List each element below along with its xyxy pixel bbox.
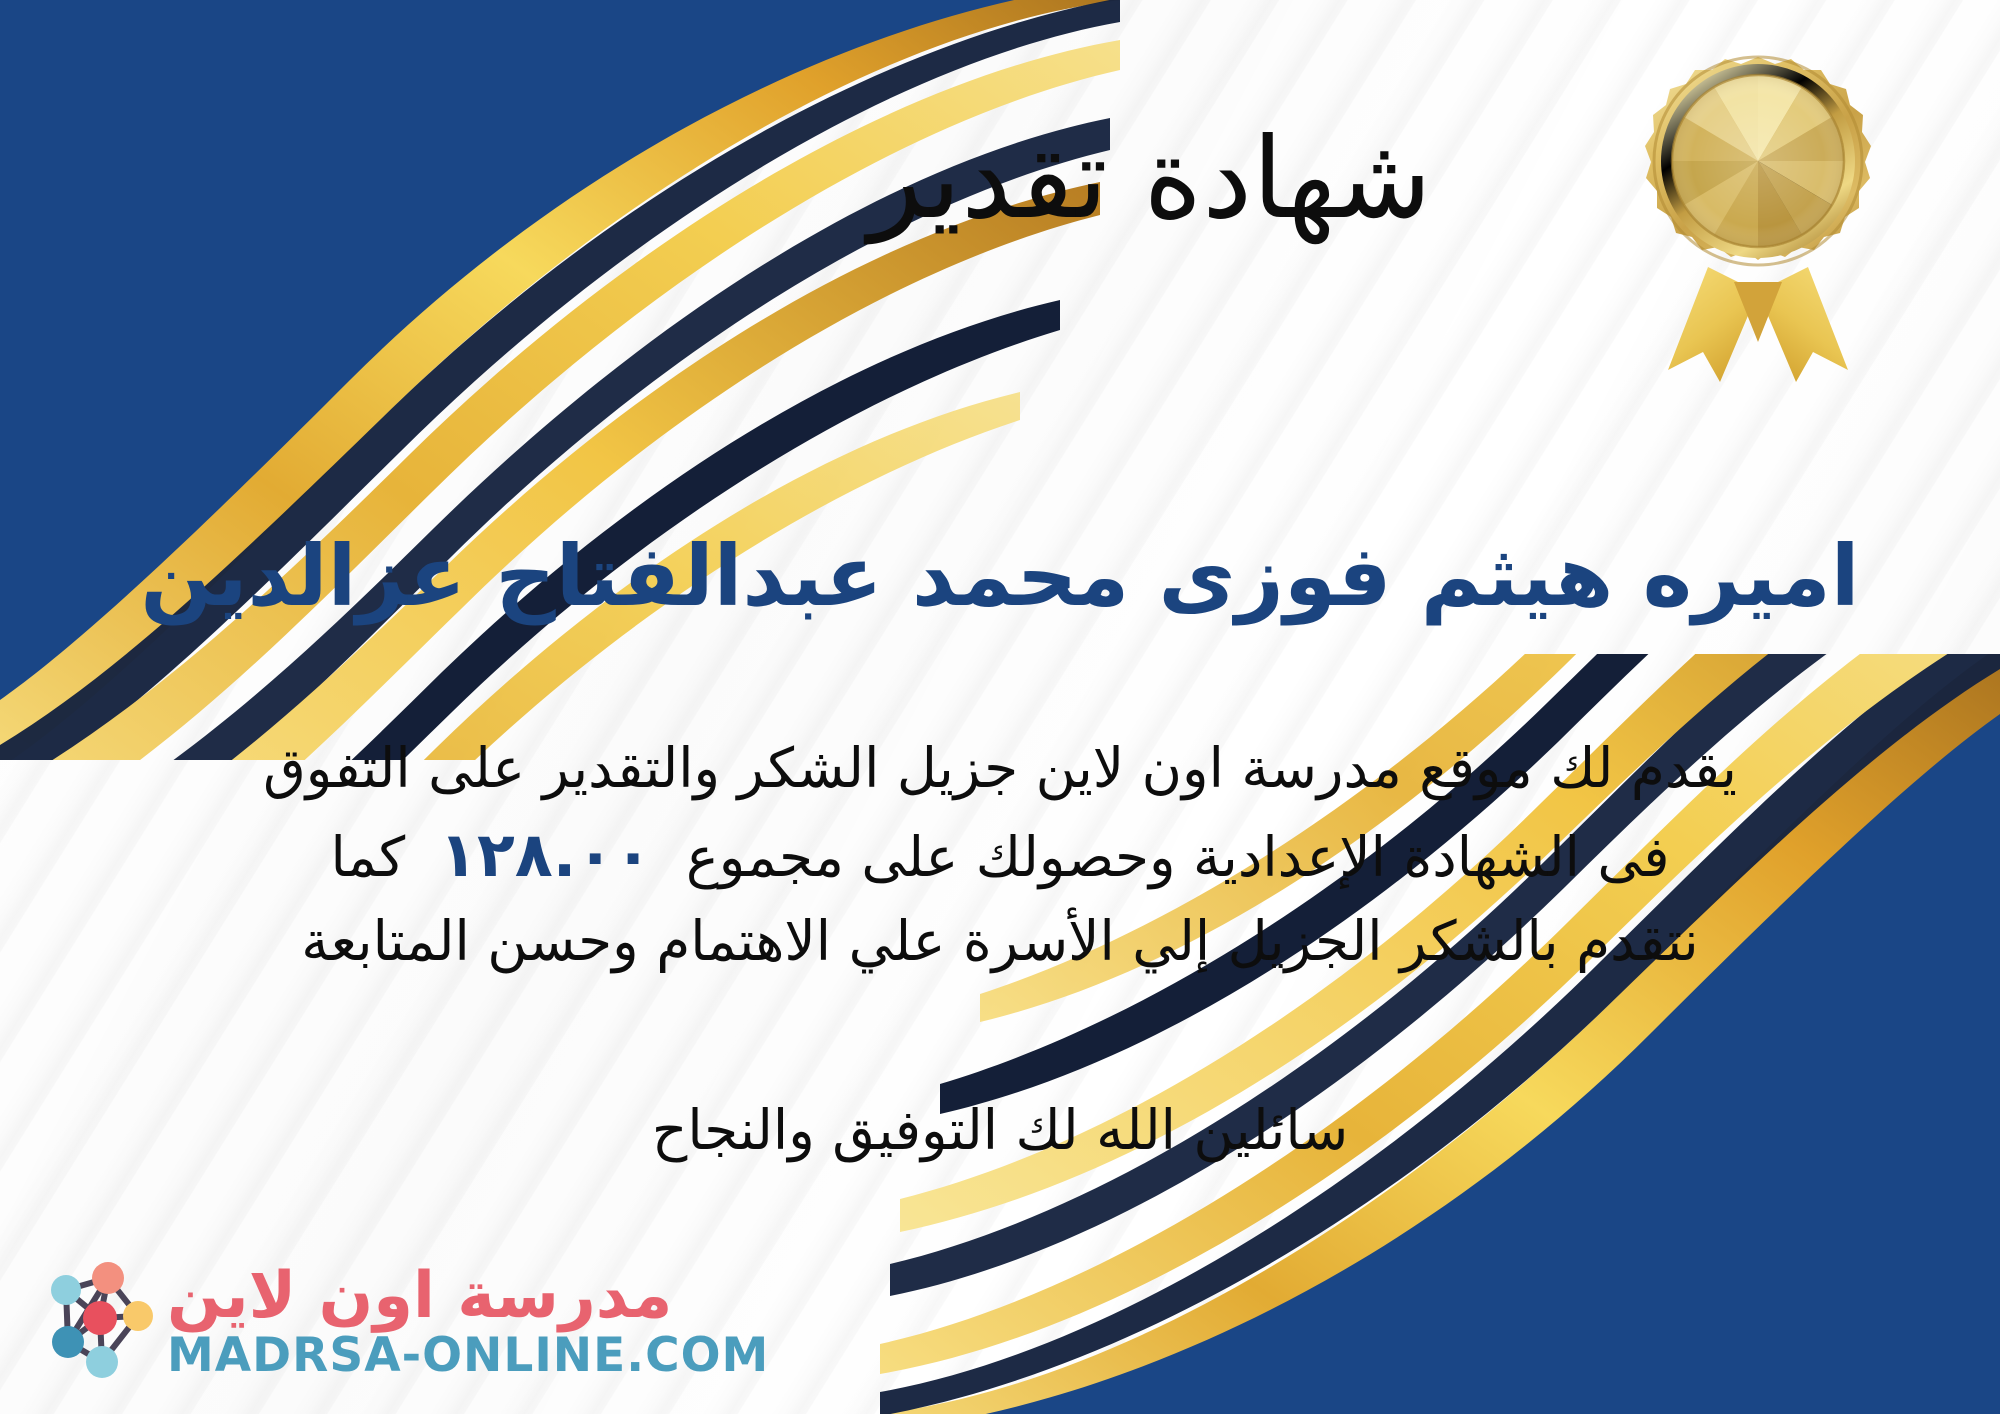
- page-title: شهادة تقدير: [0, 118, 2000, 241]
- body-line-2-prefix: فى الشهادة الإعدادية وحصولك على مجموع: [686, 825, 1670, 889]
- certificate-canvas: شهادة تقدير اميره هيثم فوزى محمد عبدالفت…: [0, 0, 2000, 1414]
- closing-line: سائلين الله لك التوفيق والنجاح: [0, 1098, 2000, 1162]
- body-line-1: يقدم لك موقع مدرسة اون لاين جزيل الشكر و…: [60, 728, 1940, 809]
- grade-total-value: ١٢٨.٠٠: [405, 818, 686, 891]
- body-line-2-suffix: كما: [330, 825, 405, 889]
- brand-name-arabic: مدرسة اون لاين: [167, 1264, 672, 1328]
- brand-text: مدرسة اون لاين MADRSA-ONLINE.COM: [167, 1264, 769, 1379]
- network-nodes-icon: [22, 1256, 157, 1386]
- brand-logo[interactable]: مدرسة اون لاين MADRSA-ONLINE.COM: [22, 1256, 769, 1386]
- recipient-name: اميره هيثم فوزى محمد عبدالفتاح عزالدين: [0, 528, 2000, 625]
- brand-url[interactable]: MADRSA-ONLINE.COM: [167, 1332, 769, 1379]
- body-paragraph: يقدم لك موقع مدرسة اون لاين جزيل الشكر و…: [60, 728, 1940, 983]
- certificate-content: شهادة تقدير اميره هيثم فوزى محمد عبدالفت…: [0, 0, 2000, 1414]
- body-line-3: نتقدم بالشكر الجزيل إلي الأسرة علي الاهت…: [60, 901, 1940, 982]
- body-line-2: فى الشهادة الإعدادية وحصولك على مجموع١٢٨…: [60, 809, 1940, 901]
